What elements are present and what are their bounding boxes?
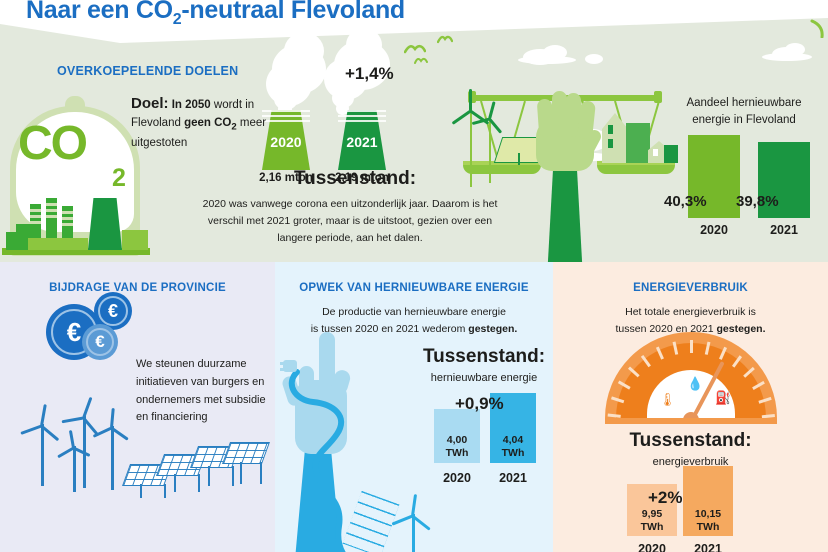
- smoke-puff: [346, 28, 382, 62]
- plug-icon: [283, 360, 297, 372]
- wind-turbine-icon: [472, 99, 508, 165]
- house-icon: [626, 123, 650, 163]
- tussenstand-sub-opwek: hernieuwbare energie: [415, 372, 553, 384]
- panel-sub-verbruik-line1: Het totale energieverbruik is: [625, 306, 756, 318]
- consumption-value-2020-num: 9,95: [642, 508, 662, 520]
- thermometer-icon: 🌡: [659, 392, 676, 408]
- renewable-value-2021-unit: TWh: [502, 447, 525, 459]
- panel-heading-provincie: BIJDRAGE VAN DE PROVINCIE: [0, 282, 275, 294]
- emission-bar-year-2021: 2021: [338, 134, 386, 150]
- tussenstand-body-top: 2020 was vanwege corona een uitzonderlij…: [190, 196, 510, 246]
- share-chart: 40,3% 39,8% 2020 2021: [668, 135, 820, 240]
- solar-panel-icon: [222, 442, 270, 464]
- panel-sub-opwek: De productie van hernieuwbare energie is…: [275, 304, 553, 338]
- consumption-value-2020: 9,95 TWh: [627, 508, 677, 535]
- panel-bijdrage-provincie: BIJDRAGE VAN DE PROVINCIE € € € We steun…: [0, 262, 275, 552]
- gas-icon: 💧: [687, 376, 703, 392]
- renewable-value-2021: 4,04 TWh: [490, 434, 536, 461]
- finger-shape: [552, 91, 567, 137]
- share-chart-title: Aandeel hernieuwbare energie in Flevolan…: [668, 95, 820, 130]
- bird-icon: [810, 18, 828, 38]
- tussenstand-label-top: Tussenstand:: [205, 168, 505, 190]
- goal-year: In 2050: [172, 99, 211, 111]
- share-year-2020: 2020: [684, 223, 744, 237]
- renewable-change-pct: +0,9%: [455, 394, 504, 414]
- tussenstand-label-verbruik: Tussenstand:: [553, 430, 828, 452]
- consumption-change-pct: +2%: [648, 488, 683, 508]
- bird-icon: [414, 56, 428, 66]
- scale-pan-right-bowl: [597, 165, 675, 174]
- cooling-tower-icon: [88, 198, 122, 250]
- coin-ring: [86, 328, 114, 356]
- wind-turbine-icon: [391, 492, 437, 552]
- consumption-chart: 9,95 TWh 10,15 TWh 2020 2021: [615, 474, 765, 552]
- consumption-value-2021-num: 10,15: [695, 508, 721, 520]
- renewable-year-2021: 2021: [485, 471, 541, 485]
- consumption-year-2021: 2021: [678, 542, 738, 552]
- solar-panel-array-icon: [126, 442, 266, 502]
- cloud-icon: [785, 43, 805, 56]
- panel-heading-energieverbruik: ENERGIEVERBRUIK: [553, 282, 828, 294]
- emission-change-pct: +1,4%: [345, 64, 394, 84]
- euro-coin-icon: €: [82, 324, 118, 360]
- share-value-2020: 40,3%: [664, 193, 707, 210]
- goal-text-block: Doel: In 2050 wordt in Flevoland geen CO…: [131, 92, 281, 153]
- renewable-value-2021-num: 4,04: [503, 434, 523, 446]
- tower-rings: [338, 110, 386, 122]
- page-title-suffix: -neutraal Flevoland: [181, 0, 405, 24]
- renewable-value-2020: 4,00 TWh: [434, 434, 480, 461]
- consumption-value-2021-unit: TWh: [697, 521, 720, 533]
- bird-icon: [437, 34, 453, 45]
- share-chart-title-line1: Aandeel hernieuwbare: [686, 97, 801, 109]
- hand-icon: [528, 85, 602, 171]
- fuel-pump-icon: ⛽: [715, 390, 731, 406]
- renewable-value-2020-num: 4,00: [447, 434, 467, 446]
- panel-opwek-hernieuwbare-energie: OPWEK VAN HERNIEUWBARE ENERGIE De produc…: [275, 262, 553, 552]
- share-year-2021: 2021: [754, 223, 814, 237]
- energy-gauge-icon: 🌡 ⛽ 💧: [605, 332, 777, 424]
- panel-sub-opwek-gestegen: gestegen.: [468, 323, 517, 335]
- page-title: Naar een CO2-neutraal Flevoland: [26, 0, 405, 29]
- page-title-prefix: Naar een CO: [26, 0, 173, 24]
- panel-sub-opwek-line2a: is tussen 2020 en 2021 wederom: [311, 323, 469, 335]
- section-label-overkoepelende-doelen: OVERKOEPELENDE DOELEN: [57, 64, 238, 78]
- consumption-year-2020: 2020: [622, 542, 682, 552]
- gauge-base: [605, 418, 777, 424]
- panel-heading-opwek: OPWEK VAN HERNIEUWBARE ENERGIE: [275, 282, 553, 294]
- renewable-year-2020: 2020: [429, 471, 485, 485]
- co2-bell-jar-illustration: CO 2: [2, 92, 152, 262]
- cloud-icon: [762, 53, 812, 61]
- infographic-root: Naar een CO2-neutraal Flevoland OVERKOEP…: [0, 0, 828, 552]
- share-value-2021: 39,8%: [736, 193, 779, 210]
- arm-shape: [545, 155, 585, 262]
- panels-section: BIJDRAGE VAN DE PROVINCIE € € € We steun…: [0, 262, 828, 552]
- share-chart-title-line2: energie in Flevoland: [692, 114, 796, 126]
- panel-text-support: We steunen duurzame initiatieven van bur…: [136, 356, 268, 427]
- goal-label: Doel:: [131, 95, 169, 112]
- consumption-value-2020-unit: TWh: [641, 521, 664, 533]
- bird-icon: [404, 42, 426, 56]
- goal-bold-geen-co2: geen CO: [184, 117, 231, 129]
- hero-section: Naar een CO2-neutraal Flevoland OVERKOEP…: [0, 0, 828, 262]
- tussenstand-label-opwek: Tussenstand:: [415, 346, 553, 368]
- renewable-value-2020-unit: TWh: [446, 447, 469, 459]
- panel-sub-opwek-line1: De productie van hernieuwbare energie: [322, 306, 506, 318]
- consumption-value-2021: 10,15 TWh: [683, 508, 733, 535]
- coin-ring: [98, 296, 128, 326]
- panel-energieverbruik: ENERGIEVERBRUIK Het totale energieverbru…: [553, 262, 828, 552]
- factory-icon: [2, 92, 152, 262]
- house-icon: [602, 113, 628, 163]
